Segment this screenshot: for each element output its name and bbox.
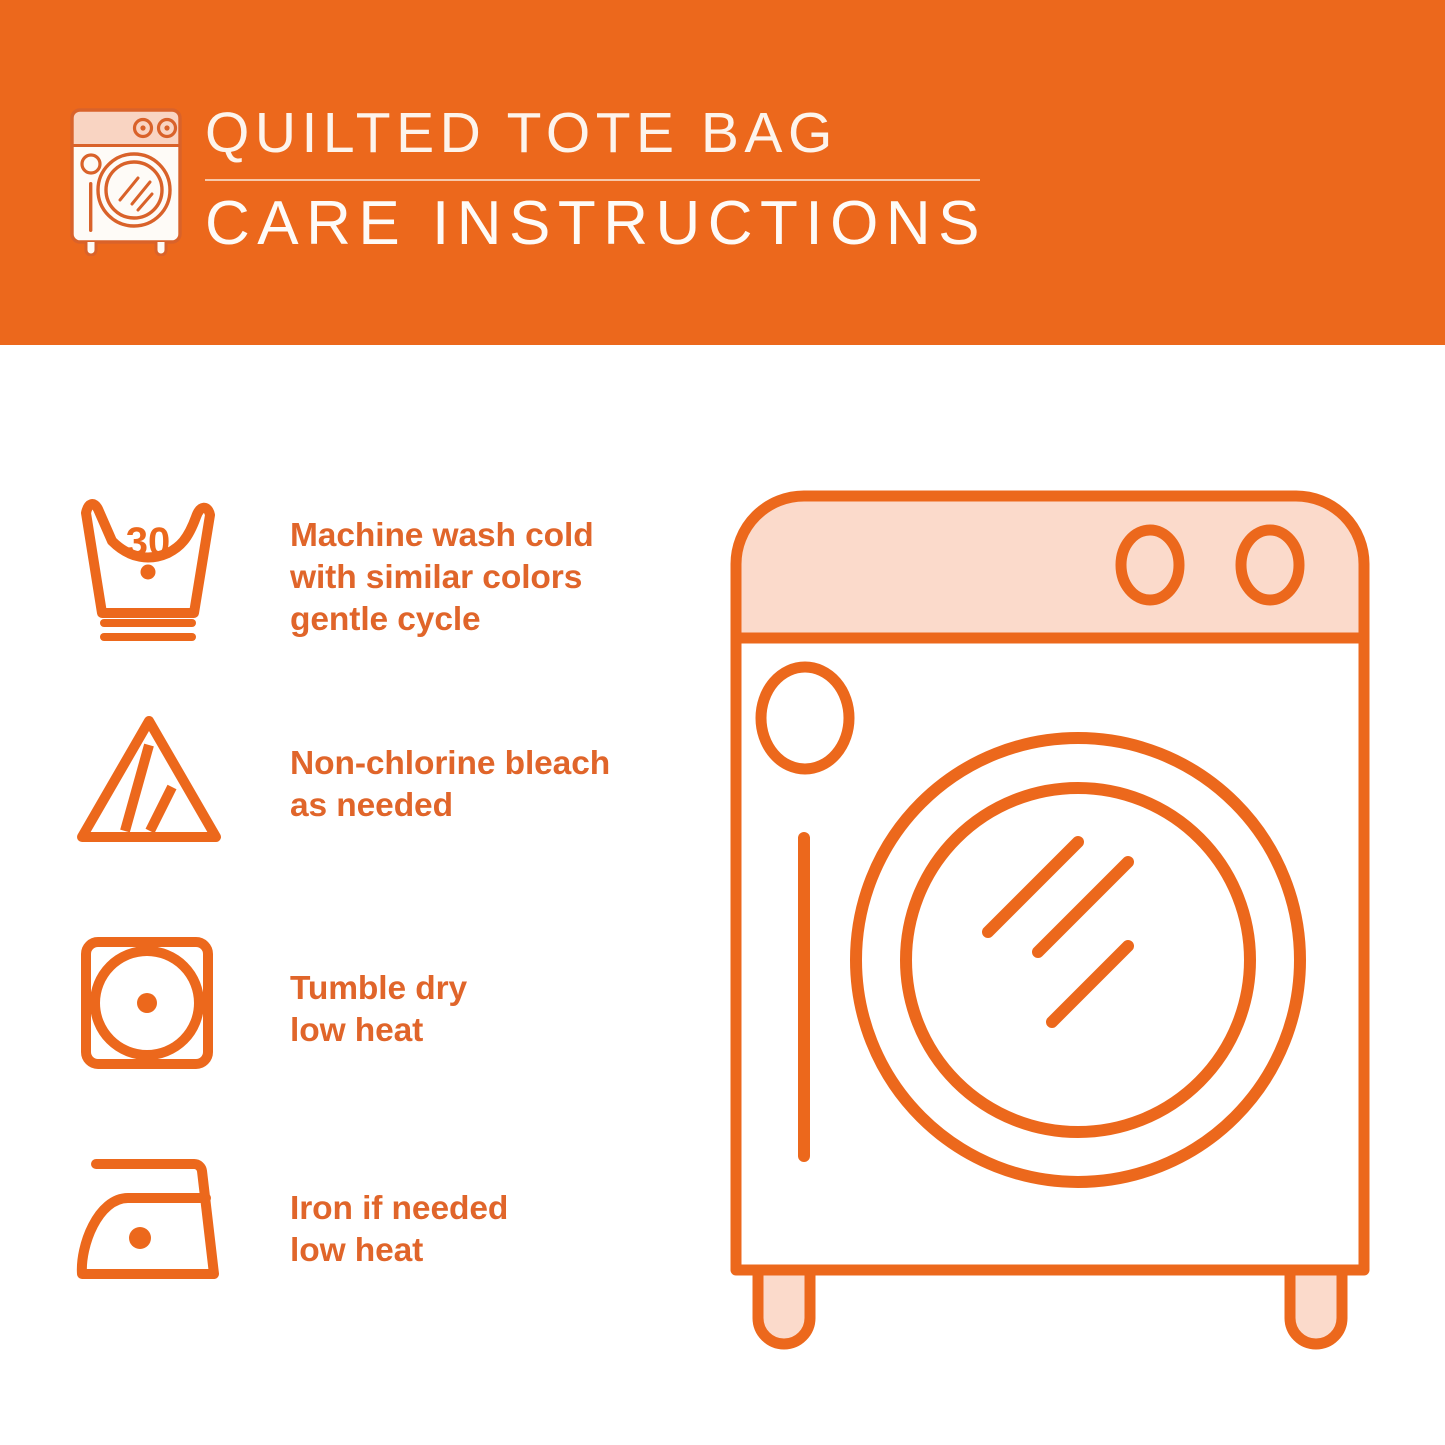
tumble-dry-icon: [72, 930, 242, 1080]
care-row-dry: Tumble dry low heat: [0, 930, 700, 1100]
header-text-block: QUILTED TOTE BAG CARE INSTRUCTIONS: [205, 100, 995, 260]
wash-dot: [141, 565, 156, 580]
tumble-dry-dot: [137, 993, 157, 1013]
care-label-wash: Machine wash cold with similar colors ge…: [290, 515, 594, 641]
wash-tub-icon: 30: [72, 495, 242, 645]
care-label-dry: Tumble dry low heat: [290, 968, 467, 1052]
care-label-iron: Iron if needed low heat: [290, 1188, 508, 1272]
care-symbol-list: 30 Machine wash cold with similar colors…: [0, 345, 720, 1445]
title-divider: [205, 179, 980, 181]
front-load-washing-machine-illustration: [700, 460, 1420, 1380]
care-row-wash: 30 Machine wash cold with similar colors…: [0, 495, 700, 685]
care-row-iron: Iron if needed low heat: [0, 1150, 700, 1320]
bleach-triangle-icon: [72, 705, 242, 855]
washer-control-panel: [736, 496, 1364, 638]
wash-temperature-value: 30: [126, 520, 171, 564]
gentle-bar-2: [100, 633, 196, 641]
care-label-bleach: Non-chlorine bleach as needed: [290, 743, 610, 827]
gentle-bar-1: [100, 619, 196, 627]
header-band: QUILTED TOTE BAG CARE INSTRUCTIONS: [0, 0, 1445, 345]
page-subtitle: CARE INSTRUCTIONS: [205, 188, 987, 260]
iron-dot: [129, 1227, 151, 1249]
bleach-stripe-2: [150, 787, 172, 831]
care-row-bleach: Non-chlorine bleach as needed: [0, 705, 700, 875]
washing-machine-icon: [64, 104, 188, 256]
washer-vertical-bar: [798, 832, 810, 1162]
care-instructions-page: QUILTED TOTE BAG CARE INSTRUCTIONS 30 Ma…: [0, 0, 1445, 1445]
iron-icon: [72, 1150, 242, 1300]
page-title: QUILTED TOTE BAG: [205, 100, 995, 166]
